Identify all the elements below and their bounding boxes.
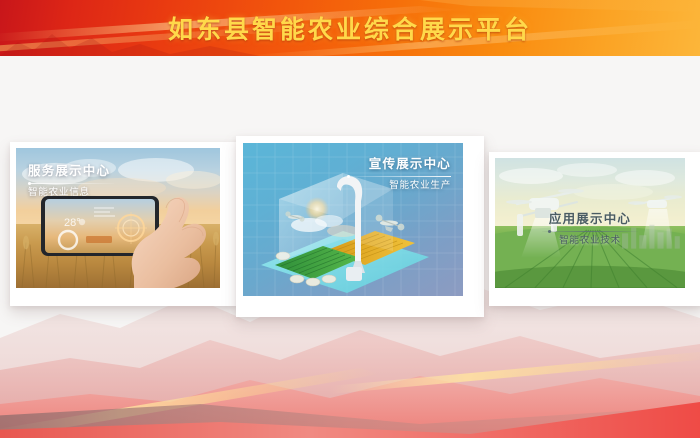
page-title: 如东县智能农业综合展示平台 [0,0,700,56]
card-service-title: 服务展示中心 [28,164,114,180]
card-application-title: 应用展示中心 [495,212,685,228]
card-promotion-image: 宣传展示中心 智能农业生产 [243,143,463,296]
card-promotion-subtitle: 智能农业生产 [347,180,451,192]
card-service-subtitle: 智能农业信息 [28,187,114,199]
card-promotion[interactable]: 宣传展示中心 智能农业生产 [236,136,484,317]
card-application[interactable]: 应用展示中心 智能农业技术 [489,152,700,306]
rule-dot [548,230,551,233]
rule-dot [28,182,31,185]
card-application-subtitle: 智能农业技术 [495,235,685,247]
card-promotion-title: 宣传展示中心 [347,157,451,173]
svg-text:28°: 28° [64,217,81,229]
page-root: 如东县智能农业综合展示平台 [0,0,700,438]
card-promotion-text: 宣传展示中心 智能农业生产 [347,157,451,192]
divider-rule [28,183,114,184]
rule-dot [347,175,350,178]
divider-rule [347,176,451,177]
card-application-text: 应用展示中心 智能农业技术 [495,212,685,247]
card-service-image: 28° [16,148,220,288]
divider-rule [542,231,638,232]
card-application-image: 应用展示中心 智能农业技术 [495,158,685,288]
card-service-text: 服务展示中心 智能农业信息 [28,164,114,199]
header-banner: 如东县智能农业综合展示平台 [0,0,700,56]
card-service[interactable]: 28° [10,142,238,306]
